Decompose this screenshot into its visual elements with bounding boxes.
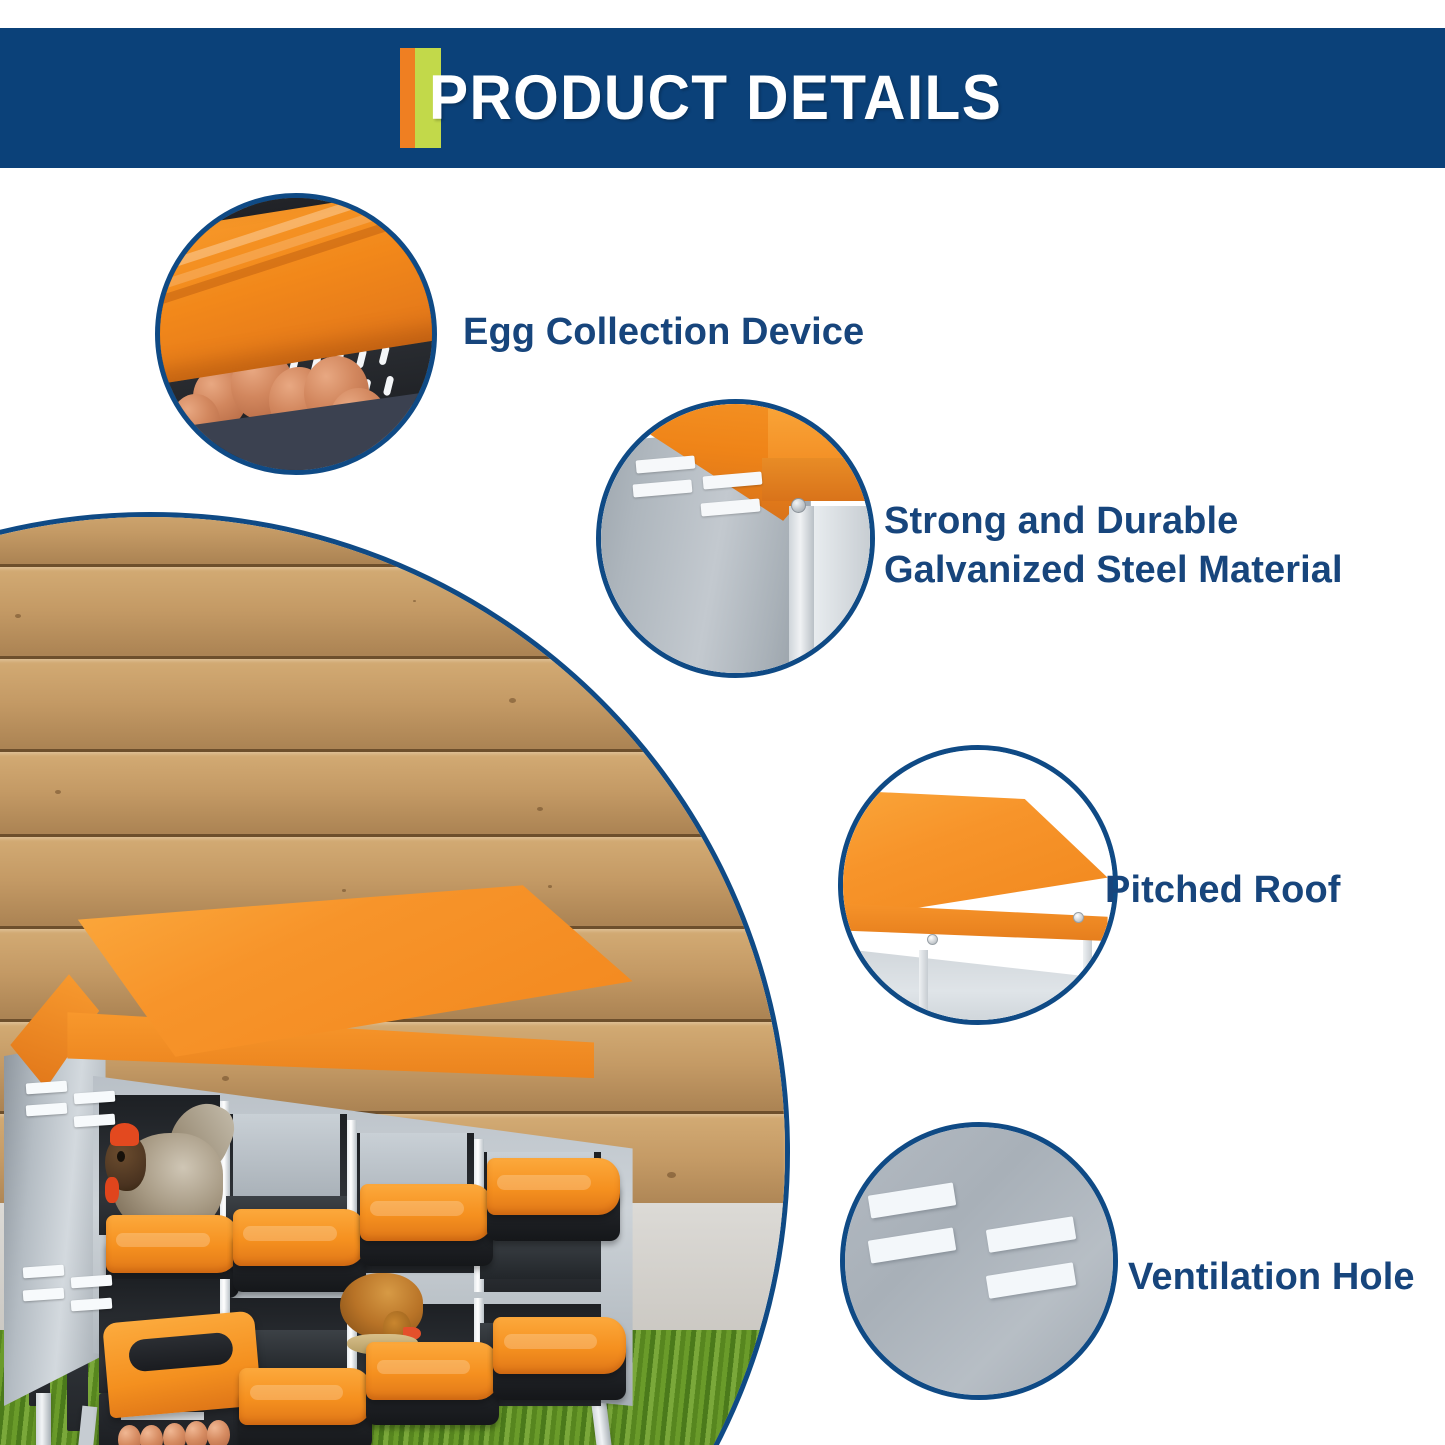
wood-knot — [399, 545, 409, 552]
header-banner: PRODUCT DETAILS — [0, 28, 1445, 168]
ventilation-hole-image — [840, 1122, 1118, 1400]
egg-tray-lower-3[interactable] — [366, 1342, 499, 1399]
egg-tray-upper-2[interactable] — [233, 1209, 366, 1266]
fence-plank — [0, 512, 785, 567]
fence-plank — [0, 659, 785, 751]
wood-knot — [413, 600, 416, 602]
tray-perforation — [382, 375, 394, 396]
fence-plank — [0, 567, 785, 659]
egg-collection-device-label: Egg Collection Device — [463, 308, 864, 357]
fence-plank — [0, 752, 785, 837]
egg-collection-device-image — [155, 193, 437, 475]
header-banner-inner: PRODUCT DETAILS — [400, 48, 1045, 148]
egg-tray-upper-3[interactable] — [360, 1184, 493, 1241]
egg-tray-upper-4[interactable] — [487, 1158, 620, 1215]
pitched-roof-label: Pitched Roof — [1105, 866, 1341, 915]
egg-tray-upper-1[interactable] — [106, 1215, 239, 1272]
screw-icon — [791, 498, 806, 513]
wood-knot — [667, 1172, 675, 1178]
ventilation-slot — [73, 1113, 115, 1127]
ventilation-hole-label: Ventilation Hole — [1128, 1253, 1415, 1302]
galvanized-steel-label: Strong and Durable Galvanized Steel Mate… — [884, 497, 1343, 596]
chicken-nesting-box-photo — [0, 512, 790, 1445]
pitched-roof-image — [838, 745, 1118, 1025]
page-title: PRODUCT DETAILS — [429, 48, 1002, 148]
egg-tray-lower-4[interactable] — [493, 1317, 626, 1374]
egg-tray-lower-2[interactable] — [239, 1368, 372, 1425]
accent-bar-orange — [400, 48, 415, 148]
nesting-box — [10, 885, 645, 1445]
ventilation-slot — [23, 1287, 65, 1301]
wood-knot — [55, 790, 61, 794]
egg-tray-flap-open[interactable] — [102, 1311, 262, 1419]
wood-knot — [537, 807, 543, 811]
